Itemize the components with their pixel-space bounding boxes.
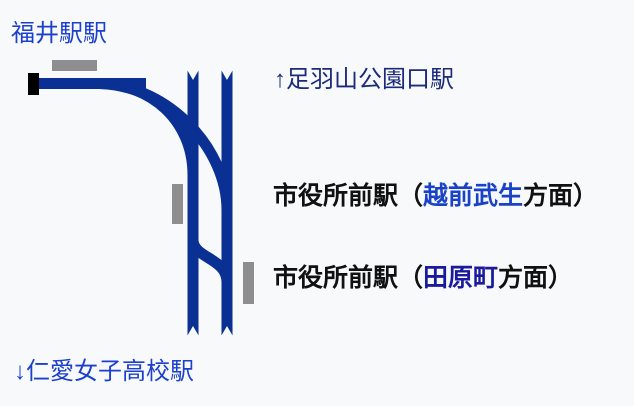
curve-terminal-to-right-track	[100, 84, 227, 211]
platform-bar-tawaramachi	[243, 262, 254, 304]
terminal-station-label: 福井駅駅	[11, 22, 107, 46]
right-vertical-track	[222, 68, 233, 338]
stop-suffix-2: 方面）	[498, 264, 573, 292]
railway-diagram-page: 福井駅駅 ↑足羽山公園口駅 市役所前駅（越前武生方面） 市役所前駅（田原町方面）…	[0, 0, 634, 406]
down-direction-label: ↓仁愛女子高校駅	[14, 360, 194, 384]
stop-direction-name-2: 田原町	[423, 264, 498, 292]
stop-label-echizentakefu: 市役所前駅（越前武生方面）	[273, 184, 598, 209]
stop-station-name-1: 市役所前駅（	[273, 182, 423, 210]
left-vertical-track	[188, 68, 199, 338]
stop-direction-name-1: 越前武生	[423, 182, 523, 210]
up-direction-label: ↑足羽山公園口駅	[274, 68, 454, 92]
stop-suffix-1: 方面）	[523, 182, 598, 210]
stop-station-name-2: 市役所前駅（	[273, 264, 423, 292]
stop-label-tawaramachi: 市役所前駅（田原町方面）	[273, 266, 573, 291]
buffer-stop-icon	[28, 73, 39, 95]
terminal-platform-bar	[52, 60, 97, 71]
platform-bar-echizentakefu	[172, 184, 183, 224]
